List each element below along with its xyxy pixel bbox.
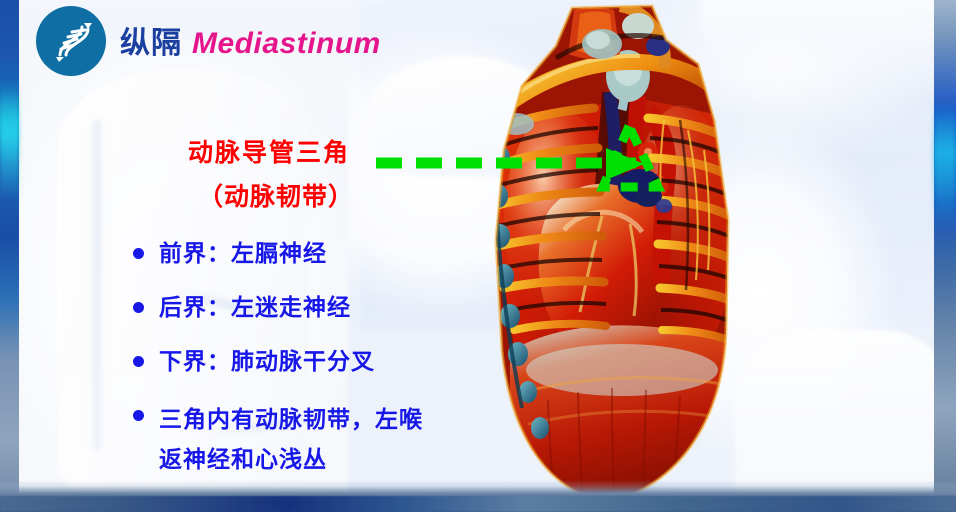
dna-helix-icon (36, 6, 106, 76)
title-english: Mediastinum (192, 27, 381, 61)
annotation-subheading: （动脉韧带） (198, 177, 354, 213)
note-text: 三角内有动脉韧带，左喉 返神经和心浅丛 (159, 400, 423, 480)
left-edge-strip (0, 0, 19, 512)
list-item-label: 前界：左膈神经 (159, 238, 327, 270)
right-edge-strip (934, 0, 956, 512)
bullet-dot-icon (133, 302, 144, 313)
bullet-dot-icon (133, 248, 144, 259)
list-item-label: 后界：左迷走神经 (159, 292, 351, 324)
note-line-1: 三角内有动脉韧带，左喉 (159, 407, 423, 433)
title-chinese: 纵隔 (120, 18, 182, 62)
page-title: 纵隔 Mediastinum (120, 18, 381, 62)
list-item: 三角内有动脉韧带，左喉 返神经和心浅丛 (133, 400, 483, 480)
thorax-mediastinum-anatomy-image (452, 0, 772, 512)
list-item: 前界：左膈神经 (133, 238, 473, 270)
right-edge-glow (934, 100, 956, 230)
bullet-dot-icon (133, 356, 144, 367)
left-edge-glow (0, 80, 19, 200)
note-line-2: 返神经和心浅丛 (159, 447, 327, 473)
list-item: 下界：肺动脉干分叉 (133, 346, 473, 378)
list-item: 后界：左迷走神经 (133, 292, 473, 324)
annotation-heading: 动脉导管三角 (188, 133, 350, 169)
contents-note-block: 三角内有动脉韧带，左喉 返神经和心浅丛 (133, 400, 483, 502)
presentation-slide: 纵隔 Mediastinum 动脉导管三角 （动脉韧带） 前界：左膈神经 后界：… (0, 0, 956, 512)
bullet-dot-icon (133, 410, 144, 421)
list-item-label: 下界：肺动脉干分叉 (159, 346, 375, 378)
boundary-bullet-list: 前界：左膈神经 后界：左迷走神经 下界：肺动脉干分叉 (133, 238, 473, 400)
